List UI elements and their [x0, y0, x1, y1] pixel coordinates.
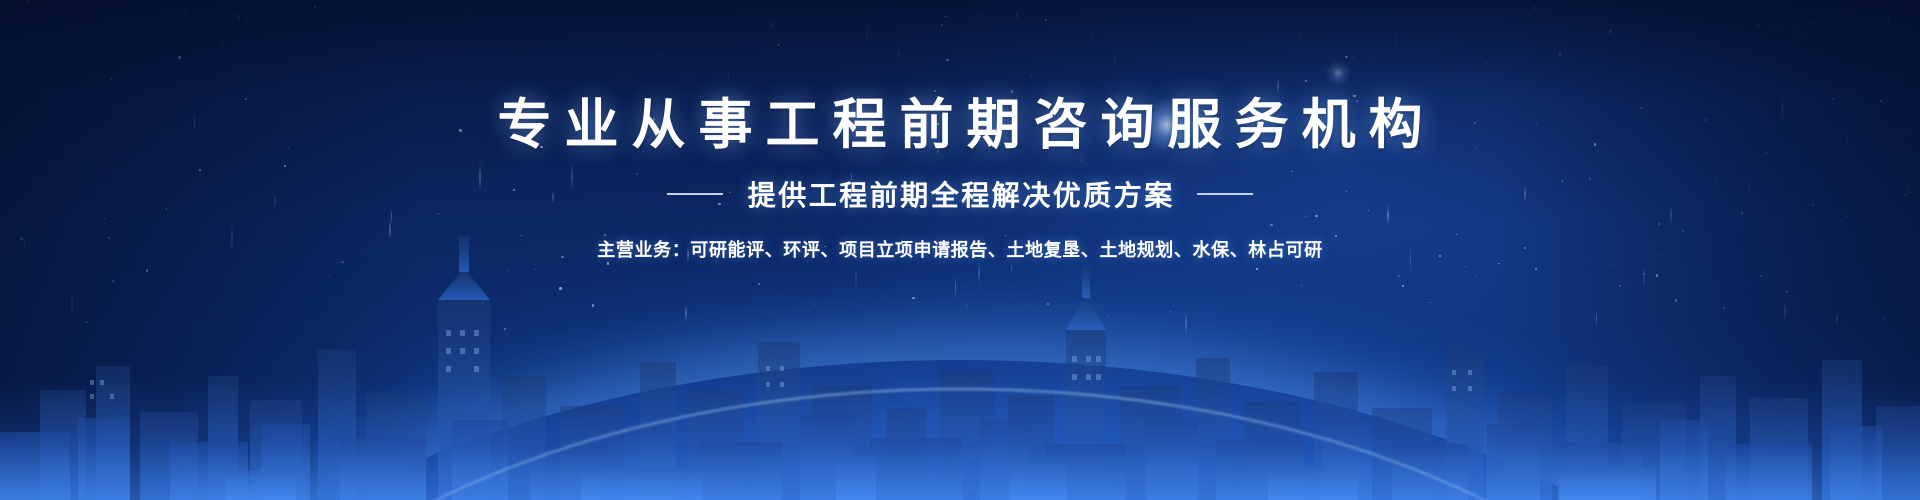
star-dot [1723, 307, 1725, 309]
star-dot [1609, 30, 1611, 32]
star-streak [1559, 51, 1561, 59]
star-dot [934, 90, 936, 92]
star-dot [1348, 71, 1349, 72]
star-dot [110, 77, 113, 80]
hero-banner: 专业从事工程前期咨询服务机构 提供工程前期全程解决优质方案 主营业务：可研能评、… [0, 0, 1920, 500]
star-streak [978, 261, 980, 285]
star-streak [1016, 11, 1018, 19]
star-streak [1299, 30, 1301, 43]
star-dot [559, 287, 562, 290]
star-streak [71, 292, 73, 316]
banner-headline: 专业从事工程前期咨询服务机构 [0, 96, 1920, 154]
star-dot [1786, 291, 1788, 293]
star-dot [772, 23, 774, 25]
star-dot [1170, 311, 1172, 313]
star-dot [962, 287, 963, 288]
star-dot [1757, 25, 1759, 27]
star-dot [1011, 90, 1014, 93]
star-dot [245, 18, 247, 20]
banner-subtitle-row: 提供工程前期全程解决优质方案 [0, 174, 1920, 214]
star-streak [855, 268, 857, 288]
star-dot [658, 53, 659, 54]
star-dot [508, 270, 509, 271]
star-dot [178, 56, 181, 59]
star-streak [867, 21, 869, 44]
star-dot [190, 74, 191, 75]
star-streak [1596, 310, 1598, 329]
star-dot [222, 44, 224, 46]
rule-right-icon [1197, 193, 1253, 195]
star-dot [1031, 76, 1032, 77]
star-streak [184, 6, 186, 20]
star-streak [1395, 29, 1397, 50]
star-dot [1402, 285, 1404, 287]
star-dot [1461, 86, 1463, 88]
light-ray [1767, 29, 1920, 67]
star-dot [945, 16, 947, 18]
star-streak [1888, 13, 1890, 29]
star-streak [238, 12, 240, 22]
star-dot [1353, 57, 1355, 59]
star-dot [607, 262, 610, 265]
star-dot [967, 305, 968, 306]
rule-left-icon [667, 193, 723, 195]
star-dot [146, 269, 148, 271]
star-dot [1889, 7, 1891, 9]
star-dot [941, 24, 943, 26]
star-dot [1486, 63, 1487, 64]
star-streak [1836, 311, 1838, 325]
star-dot [1107, 316, 1109, 318]
lens-flare-spark-small [1325, 60, 1351, 86]
banner-business-line: 主营业务：可研能评、环评、项目立项申请报告、土地复垦、土地规划、水保、林占可研 [0, 236, 1920, 262]
star-dot [1476, 275, 1477, 276]
horizon-glow-arc [85, 360, 1835, 500]
star-dot [1345, 56, 1348, 59]
star-streak [685, 305, 687, 322]
star-dot [1301, 285, 1302, 286]
star-dot [1675, 299, 1677, 301]
star-dot [468, 14, 469, 15]
star-dot [1398, 275, 1400, 277]
star-dot [62, 8, 63, 9]
star-streak [782, 3, 784, 14]
star-dot [1656, 274, 1659, 277]
star-dot [1535, 7, 1536, 8]
star-dot [112, 280, 115, 283]
star-dot [1643, 273, 1645, 275]
star-streak [955, 276, 957, 298]
banner-subtitle: 提供工程前期全程解决优质方案 [745, 174, 1175, 214]
star-dot [758, 283, 760, 285]
star-dot [1371, 58, 1372, 59]
star-streak [1277, 78, 1279, 94]
star-dot [482, 302, 483, 303]
star-dot [1535, 268, 1537, 270]
star-dot [912, 297, 914, 299]
star-dot [1639, 6, 1640, 7]
star-dot [1760, 275, 1762, 277]
star-dot [535, 269, 536, 270]
star-dot [1047, 303, 1050, 306]
star-dot [1619, 285, 1621, 287]
star-streak [1090, 30, 1092, 39]
star-dot [1613, 264, 1614, 265]
star-streak [1185, 313, 1187, 334]
star-dot [86, 321, 88, 323]
ground-glow-fade [0, 380, 1920, 500]
light-ray [1792, 0, 1920, 30]
star-dot [946, 59, 948, 61]
star-dot [978, 15, 979, 16]
star-streak [1784, 301, 1786, 322]
star-dot [815, 303, 816, 304]
star-dot [10, 79, 12, 81]
star-dot [27, 0, 30, 3]
star-streak [1114, 53, 1116, 67]
star-dot [1256, 268, 1258, 270]
star-dot [1045, 19, 1047, 21]
star-dot [1430, 302, 1431, 303]
star-dot [1498, 263, 1499, 264]
star-streak [898, 48, 900, 60]
star-dot [314, 6, 316, 8]
star-dot [1762, 287, 1764, 289]
star-dot [504, 328, 506, 330]
star-streak [1790, 3, 1792, 27]
star-streak [1643, 265, 1645, 288]
star-dot [1883, 317, 1885, 319]
light-ray [1860, 0, 1920, 30]
star-dot [592, 304, 594, 306]
star-streak [1011, 263, 1013, 274]
star-dot [778, 44, 780, 46]
banner-content: 专业从事工程前期咨询服务机构 提供工程前期全程解决优质方案 主营业务：可研能评、… [0, 96, 1920, 262]
star-dot [329, 275, 331, 277]
star-dot [1465, 266, 1467, 268]
star-dot [1305, 80, 1307, 82]
horizon-rim-line [180, 388, 1740, 500]
star-streak [728, 68, 730, 83]
